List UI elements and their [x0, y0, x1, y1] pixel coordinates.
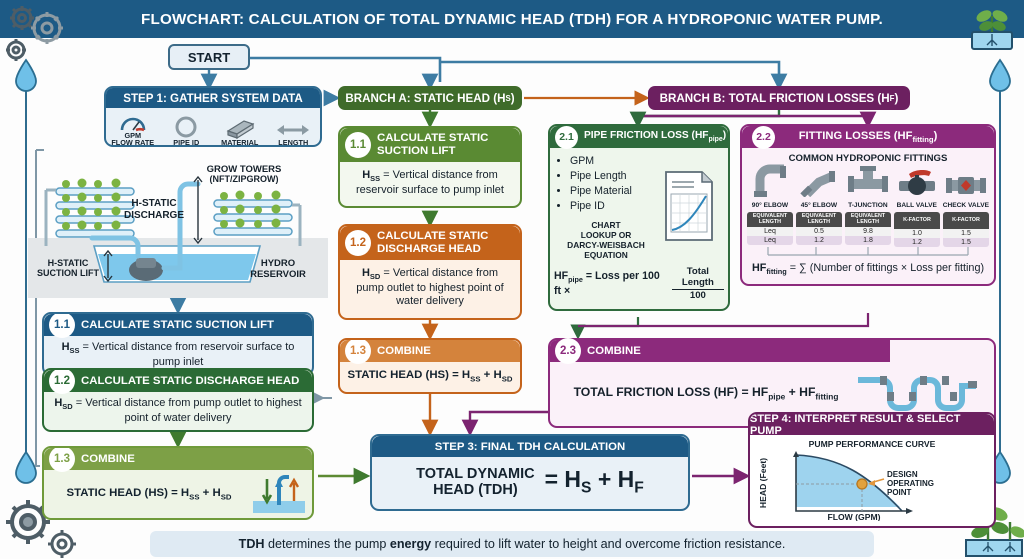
- double-arrow-icon: [275, 121, 311, 139]
- branch-a-header: BRANCH A: STATIC HEAD (HS): [338, 86, 522, 110]
- a11-title-l2: SUCTION LIFT: [377, 145, 455, 157]
- badge-2-2: 2.2: [752, 126, 775, 149]
- a12-title-l2: DISCHARGE HEAD: [377, 243, 481, 255]
- label-grow-towers-sub: (NFT/ZIPGROW): [210, 174, 279, 184]
- b21-title-sub: pipe: [709, 137, 723, 144]
- b22-bracket: [742, 247, 994, 259]
- water-drop-icon: [13, 450, 39, 484]
- b22-f-pre: HF: [752, 262, 766, 274]
- tee-icon: [846, 163, 890, 197]
- hydroponic-system-illustration: GROW TOWERS (NFT/ZIPGROW) H-STATIC DISCH…: [28, 150, 328, 298]
- b22-f-post: = ∑ (Number of fittings × Loss per fitti…: [787, 262, 984, 274]
- branch-b-text: BRANCH B: TOTAL FRICTION LOSSES (H: [660, 92, 890, 105]
- badge-2-3: 2.3: [555, 338, 581, 364]
- step1-label-flowrate: FLOW RATE: [111, 139, 154, 147]
- step3-final-tdh-calculation[interactable]: STEP 3: FINAL TDH CALCULATION TOTAL DYNA…: [370, 434, 690, 511]
- a13-formula: STATIC HEAD (HS) = HSS + HSD: [346, 369, 514, 383]
- branch-a-text: BRANCH A: STATIC HEAD (H: [345, 92, 505, 105]
- label-h-static-suction-2: SUCTION LIFT: [37, 268, 99, 278]
- gears-icon: [2, 2, 66, 64]
- fitting-table-col: EQUIVALENTLENGTH 9.8 1.8: [845, 212, 891, 247]
- badge-2-1: 2.1: [555, 126, 578, 149]
- left-step-1-3[interactable]: 1.3 COMBINE STATIC HEAD (HS) = HSS + HSD: [42, 446, 314, 520]
- b21-method-l4: EQUATION: [584, 250, 628, 260]
- left-step-1-2-title: CALCULATE STATIC DISCHARGE HEAD: [81, 375, 299, 387]
- step4-xlabel: FLOW (GPM): [828, 512, 881, 521]
- step1-item-gpm: GPM FLOW RATE: [106, 108, 160, 147]
- fit-value-2: 1.2: [894, 238, 940, 247]
- b21-input-item: Pipe Length: [570, 169, 656, 184]
- step4-title: STEP 4: INTERPRET RESULT & SELECT PUMP: [750, 414, 994, 435]
- badge-1-2: 1.2: [49, 368, 75, 394]
- b23-f-pre: TOTAL FRICTION LOSS (HF) = HF: [574, 385, 769, 399]
- b22-title-sub: fitting: [912, 135, 933, 144]
- fit-value-2: Leq: [747, 236, 793, 245]
- pipe-material-icon: [224, 117, 256, 139]
- badge-a-1-1: 1.1: [345, 132, 371, 158]
- a12-sub: SD: [370, 272, 380, 281]
- hss-text: = Vertical distance from reservoir surfa…: [80, 341, 295, 368]
- left-decor-line: [25, 88, 27, 460]
- fit-value-2: 1.5: [943, 238, 989, 247]
- step1-title: STEP 1: GATHER SYSTEM DATA: [106, 88, 320, 108]
- fitting-table-col: K-FACTOR 1.0 1.2: [894, 212, 940, 247]
- system-diagram-svg: GROW TOWERS (NFT/ZIPGROW) H-STATIC DISCH…: [28, 150, 328, 298]
- hsd-text: = Vertical distance from pump outlet to …: [73, 397, 302, 424]
- start-node[interactable]: START: [168, 44, 250, 70]
- step3-label-l1: TOTAL DYNAMIC: [416, 466, 534, 482]
- hsd-subscript: SD: [62, 402, 72, 411]
- b22-icon-row: [742, 166, 994, 202]
- left-step-1-1-body: HSS = Vertical distance from reservoir s…: [51, 341, 305, 369]
- fit-hdr-l2: LENGTH: [808, 219, 830, 225]
- pipe-circle-icon: [174, 115, 198, 139]
- elbow-90-icon: [750, 163, 790, 197]
- left-step-1-2[interactable]: 1.2 CALCULATE STATIC DISCHARGE HEAD HSD …: [42, 368, 314, 432]
- a11-symbol: H: [362, 169, 370, 181]
- fit-value-2: 1.8: [845, 236, 891, 245]
- b21-input-item: GPM: [570, 154, 656, 169]
- b21-input-item: Pipe ID: [570, 199, 656, 214]
- b23-f-mid: + HF: [785, 385, 815, 399]
- left-step-1-3-title: COMBINE: [81, 453, 135, 465]
- fit-value-1: 0.5: [796, 227, 842, 236]
- a11-sub: SS: [370, 174, 380, 183]
- b21-method-l1: CHART: [591, 220, 620, 230]
- water-drop-icon: [987, 58, 1013, 92]
- b23-f-sub2: fitting: [815, 391, 838, 401]
- ball-valve-icon: [895, 163, 939, 197]
- branch-b-fitting-losses[interactable]: 2.2 FITTING LOSSES (HFfitting) COMMON HY…: [740, 124, 996, 286]
- branch-b-pipe-friction-loss[interactable]: 2.1 PIPE FRICTION LOSS (HFpipe) GPM Pipe…: [548, 124, 730, 311]
- b21-f-sub: pipe: [568, 276, 583, 285]
- step1-label-material: MATERIAL: [221, 139, 258, 147]
- b21-input-item: Pipe Material: [570, 184, 656, 199]
- b22-name-row: 90° ELBOW 45° ELBOW T-JUNCTION BALL VALV…: [742, 202, 994, 209]
- step1-label-pipeid: PIPE ID: [173, 139, 199, 147]
- hss-subscript: SS: [70, 346, 80, 355]
- a13-formula-mid: + H: [481, 369, 502, 381]
- badge-1-1: 1.1: [49, 312, 75, 338]
- branch-a-end: ): [511, 92, 515, 105]
- b21-frac-den: 100: [672, 289, 724, 301]
- step3-label-l2: HEAD (TDH): [433, 482, 518, 498]
- a12-title-l1: CALCULATE STATIC: [377, 230, 488, 242]
- fitting-name: T-JUNCTION: [845, 202, 891, 209]
- step3-label: TOTAL DYNAMIC HEAD (TDH): [416, 466, 534, 498]
- badge-1-3: 1.3: [49, 446, 75, 472]
- b23-formula: TOTAL FRICTION LOSS (HF) = HFpipe + HFfi…: [556, 385, 856, 401]
- hs-formula-mid: + H: [200, 487, 221, 499]
- step4-ylabel: HEAD (Feet): [758, 458, 768, 508]
- a13-title: COMBINE: [377, 345, 431, 357]
- fitting-name: CHECK VALVE: [943, 202, 989, 209]
- check-valve-icon: [944, 163, 988, 197]
- b22-title-end: ): [934, 130, 938, 142]
- hs-formula-sub2: SD: [221, 492, 232, 501]
- pipe-network-icon: [856, 370, 984, 416]
- fitting-name: 90° ELBOW: [747, 202, 793, 209]
- b21-method-l3: DARCY-WEISBACH: [567, 240, 645, 250]
- left-step-1-3-formula: STATIC HEAD (HS) = HSS + HSD: [51, 487, 247, 501]
- fitting-table-col: EQUIVALENTLENGTH 0.5 1.2: [796, 212, 842, 247]
- footer-part1: TDH: [239, 537, 265, 551]
- b21-input-list: GPM Pipe Length Pipe Material Pipe ID: [556, 154, 656, 214]
- badge-a-1-2: 1.2: [345, 230, 371, 256]
- left-step-1-1-title: CALCULATE STATIC SUCTION LIFT: [81, 319, 274, 331]
- b23-f-sub1: pipe: [768, 391, 785, 401]
- a13-formula-sub2: SD: [502, 374, 513, 383]
- b22-f-sub: fitting: [766, 267, 786, 276]
- up-down-arrows-water-icon: [253, 475, 305, 513]
- fitting-name: 45° ELBOW: [796, 202, 842, 209]
- b21-title-pre: PIPE FRICTION LOSS (HF: [584, 130, 709, 141]
- step4-annotation-l3: POINT: [887, 488, 912, 497]
- page-title: FLOWCHART: CALCULATION OF TOTAL DYNAMIC …: [141, 11, 883, 28]
- step3-eq-pre: = H: [545, 466, 581, 492]
- fit-hdr-l1: K-FACTOR: [903, 217, 931, 223]
- left-step-1-2-body: HSD = Vertical distance from pump outlet…: [51, 397, 305, 425]
- chart-document-icon: [662, 170, 716, 244]
- fit-value-1: 1.0: [894, 229, 940, 238]
- water-drop-icon: [13, 58, 39, 92]
- fit-hdr-l1: K-FACTOR: [952, 217, 980, 223]
- fit-hdr-l2: LENGTH: [857, 219, 879, 225]
- fit-value-2: 1.2: [796, 236, 842, 245]
- step4-annotation-l1: DESIGN: [887, 470, 918, 479]
- branch-a-step-1-2[interactable]: 1.2 CALCULATE STATIC DISCHARGE HEAD HSD …: [338, 224, 522, 320]
- hs-formula-pre: STATIC HEAD (HS) = H: [66, 487, 189, 499]
- b22-formula: HFfitting = ∑ (Number of fittings × Loss…: [742, 259, 994, 284]
- step3-eq-sub2: F: [634, 480, 644, 497]
- elbow-45-icon: [799, 163, 839, 197]
- left-step-1-1[interactable]: 1.1 CALCULATE STATIC SUCTION LIFT HSS = …: [42, 312, 314, 376]
- a12-symbol: H: [362, 267, 370, 279]
- step3-title: STEP 3: FINAL TDH CALCULATION: [372, 436, 688, 457]
- step1-label-length: LENGTH: [278, 139, 308, 147]
- footer-part2: determines the pump: [265, 537, 390, 551]
- hss-symbol: H: [62, 341, 70, 353]
- step4-annotation-l2: OPERATING: [887, 479, 934, 488]
- step3-eq-mid: + H: [591, 466, 634, 492]
- step1-item-material: MATERIAL: [213, 108, 267, 147]
- a13-formula-sub1: SS: [470, 374, 480, 383]
- b21-f-pre: HF: [554, 270, 568, 282]
- a11-title-l1: CALCULATE STATIC: [377, 132, 488, 144]
- step3-equation: = HS + HF: [545, 466, 644, 498]
- label-hydro-1: HYDRO: [261, 258, 295, 269]
- label-hydro-2: RESERVOIR: [250, 269, 306, 280]
- b21-method-note: CHART LOOKUP OR DARCY-WEISBACH EQUATION: [556, 220, 656, 260]
- footer-part3: energy: [390, 537, 431, 551]
- a11-body: HSS = Vertical distance from reservoir s…: [348, 169, 512, 197]
- fitting-name: BALL VALVE: [894, 202, 940, 209]
- step1-item-length: LENGTH: [267, 108, 321, 147]
- badge-a-1-3: 1.3: [345, 338, 371, 364]
- b21-title-end: ): [723, 130, 726, 141]
- step1-item-pipe-id: PIPE ID: [160, 108, 214, 147]
- fitting-table-col: EQUIVALENTLENGTH Leq Leq: [747, 212, 793, 247]
- b22-table: EQUIVALENTLENGTH Leq Leq EQUIVALENTLENGT…: [742, 212, 994, 247]
- fitting-table-col: K-FACTOR 1.5 1.5: [943, 212, 989, 247]
- footer-note: TDH determines the pump energy required …: [150, 531, 874, 557]
- b21-method-l2: LOOKUP OR: [581, 230, 632, 240]
- fit-value-1: 1.5: [943, 229, 989, 238]
- pump-performance-curve: HEAD (Feet) FLOW (GPM) DESIGN OPERATING …: [750, 449, 994, 521]
- right-decor-line: [999, 88, 1001, 460]
- a13-formula-pre: STATIC HEAD (HS) = H: [347, 369, 470, 381]
- fit-hdr-l2: LENGTH: [759, 219, 781, 225]
- fit-value-1: 9.8: [845, 227, 891, 236]
- header-bar: FLOWCHART: CALCULATION OF TOTAL DYNAMIC …: [40, 0, 984, 38]
- gauge-icon: [119, 115, 147, 132]
- b22-title-pre: FITTING LOSSES (HF: [799, 130, 913, 142]
- label-h-static-suction-1: H-STATIC: [48, 258, 89, 268]
- a12-body: HSD = Vertical distance from pump outlet…: [348, 267, 512, 309]
- fit-value-1: Leq: [747, 227, 793, 236]
- label-h-static-discharge-2: DISCHARGE: [124, 210, 184, 221]
- label-h-static-discharge-1: H-STATIC: [131, 198, 176, 209]
- hs-formula-sub1: SS: [189, 492, 199, 501]
- step4-chart-title: PUMP PERFORMANCE CURVE: [750, 439, 994, 449]
- step4-interpret-result[interactable]: STEP 4: INTERPRET RESULT & SELECT PUMP P…: [748, 412, 996, 528]
- b23-title: COMBINE: [587, 345, 641, 357]
- branch-b-end: ): [894, 92, 898, 105]
- step1-gather-system-data[interactable]: STEP 1: GATHER SYSTEM DATA GPM FLOW RATE…: [104, 86, 322, 147]
- step3-eq-sub1: S: [581, 480, 591, 497]
- b21-formula: HFpipe = Loss per 100 ft × Total Length …: [550, 263, 728, 308]
- b21-frac-num: Total Length: [682, 266, 714, 288]
- branch-b-header: BRANCH B: TOTAL FRICTION LOSSES (HF): [648, 86, 910, 110]
- branch-a-step-1-3[interactable]: 1.3 COMBINE STATIC HEAD (HS) = HSS + HSD: [338, 338, 522, 394]
- seedling-pot-icon: [966, 4, 1018, 52]
- footer-part4: required to lift water to height and ove…: [431, 537, 785, 551]
- flowchart-canvas: FLOWCHART: CALCULATION OF TOTAL DYNAMIC …: [0, 0, 1024, 559]
- branch-a-step-1-1[interactable]: 1.1 CALCULATE STATIC SUCTION LIFT HSS = …: [338, 126, 522, 208]
